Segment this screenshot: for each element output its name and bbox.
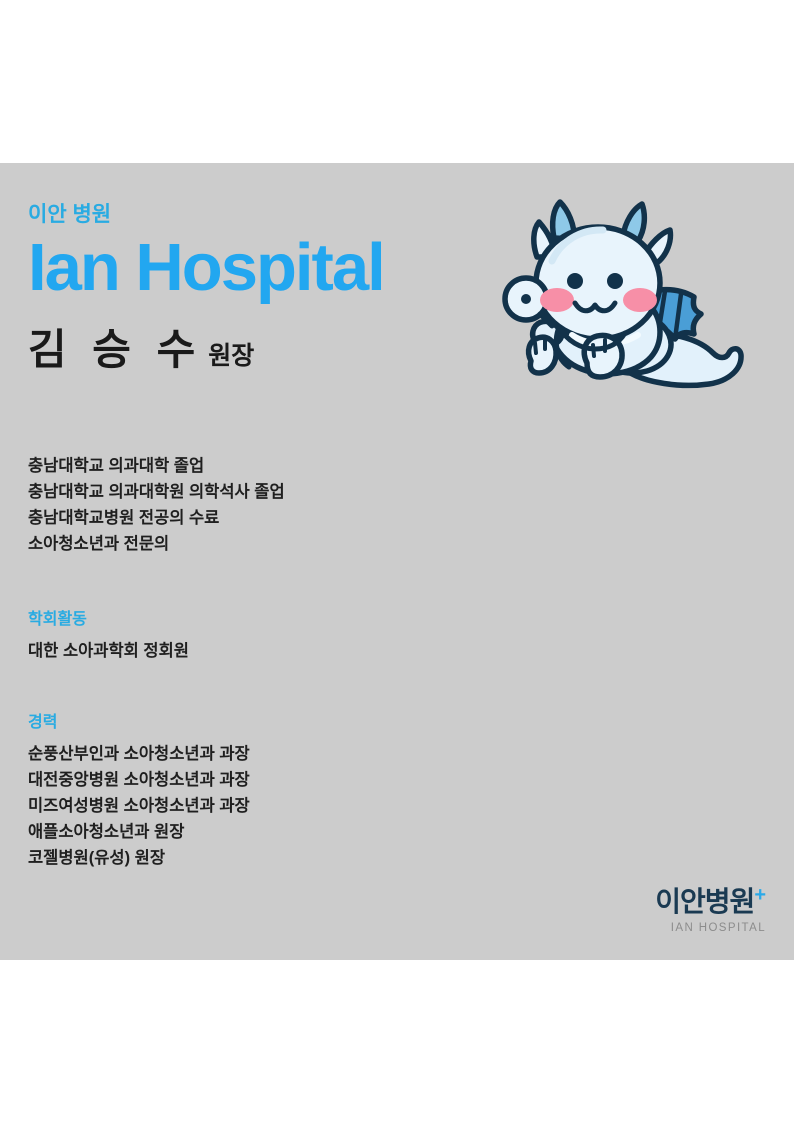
career-list: 순풍산부인과 소아청소년과 과장 대전중앙병원 소아청소년과 과장 미즈여성병원… [28, 741, 548, 871]
list-item: 코젤병원(유성) 원장 [28, 845, 548, 871]
list-item: 순풍산부인과 소아청소년과 과장 [28, 741, 548, 767]
list-item: 소아청소년과 전문의 [28, 531, 548, 557]
section-heading-academic: 학회활동 [28, 608, 548, 632]
plus-icon: + [754, 884, 766, 906]
hospital-logo: 이안병원+ IAN HOSPITAL [655, 888, 766, 935]
dragon-doctor-mascot-icon [495, 183, 745, 418]
list-item: 충남대학교병원 전공의 수료 [28, 505, 548, 531]
brand-name-korean: 이안 병원 [28, 203, 498, 226]
list-item: 대한 소아과학회 정회원 [28, 638, 548, 664]
brand-name-english: Ian Hospital [28, 234, 498, 301]
list-item: 미즈여성병원 소아청소년과 과장 [28, 793, 548, 819]
logo-subtext: IAN HOSPITAL [655, 923, 766, 935]
logo-wordmark-row: 이안병원+ [655, 888, 766, 916]
doctor-title: 원장 [208, 336, 254, 372]
academic-list: 대한 소아과학회 정회원 [28, 638, 548, 664]
section-education: 충남대학교 의과대학 졸업 충남대학교 의과대학원 의학석사 졸업 충남대학교병… [28, 453, 548, 557]
list-item: 충남대학교 의과대학 졸업 [28, 453, 548, 479]
education-list: 충남대학교 의과대학 졸업 충남대학교 의과대학원 의학석사 졸업 충남대학교병… [28, 453, 548, 557]
logo-wordmark: 이안병원 [655, 888, 754, 916]
list-item: 대전중앙병원 소아청소년과 과장 [28, 767, 548, 793]
profile-card: 이안 병원 Ian Hospital 김 승 수 원장 [0, 163, 794, 960]
doctor-name-line: 김 승 수 원장 [28, 327, 498, 373]
list-item: 애플소아청소년과 원장 [28, 819, 548, 845]
section-academic-activity: 학회활동 대한 소아과학회 정회원 [28, 608, 548, 664]
section-career: 경력 순풍산부인과 소아청소년과 과장 대전중앙병원 소아청소년과 과장 미즈여… [28, 711, 548, 871]
section-heading-career: 경력 [28, 711, 548, 735]
list-item: 충남대학교 의과대학원 의학석사 졸업 [28, 479, 548, 505]
doctor-name: 김 승 수 [28, 327, 202, 373]
header-block: 이안 병원 Ian Hospital 김 승 수 원장 [28, 203, 498, 373]
